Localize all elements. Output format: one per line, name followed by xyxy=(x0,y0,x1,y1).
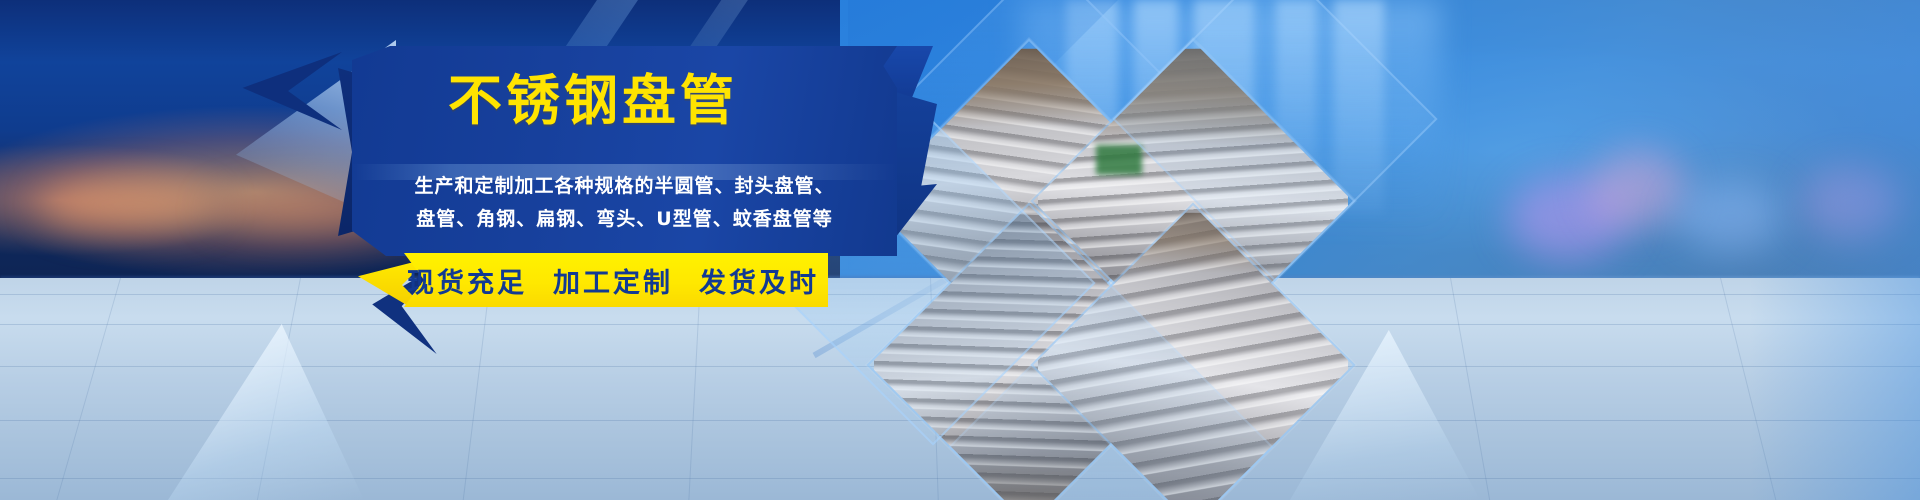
promotional-banner: 不锈钢盘管 生产和定制加工各种规格的半圆管、封头盘管、 盘管、角钢、扁钢、弯头、… xyxy=(0,0,1920,500)
bokeh-light-2 xyxy=(1590,150,1686,228)
ribbon-item-custom: 加工定制 xyxy=(553,261,673,300)
page-title: 不锈钢盘管 xyxy=(448,74,738,128)
ribbon-text-group: 现货充足 加工定制 发货及时 xyxy=(398,253,828,307)
ground-gridline-v xyxy=(56,278,121,500)
feature-ribbon: 现货充足 加工定制 发货及时 xyxy=(358,253,828,307)
photo-green-object xyxy=(1096,145,1142,175)
subtitle-line-1: 生产和定制加工各种规格的半圆管、封头盘管、 xyxy=(352,171,897,198)
ground-gridline-v xyxy=(463,278,491,500)
bokeh-light-5 xyxy=(40,178,220,232)
subtitle-line-2: 盘管、角钢、扁钢、弯头、U型管、蚊香盘管等 xyxy=(352,204,897,231)
bokeh-light-3 xyxy=(1676,182,1786,252)
ribbon-item-stock: 现货充足 xyxy=(407,261,527,300)
headline-panel: 不锈钢盘管 生产和定制加工各种规格的半圆管、封头盘管、 盘管、角钢、扁钢、弯头、… xyxy=(352,46,897,256)
bokeh-light-4 xyxy=(1802,166,1902,240)
ribbon-item-shipping: 发货及时 xyxy=(699,261,819,300)
ground-gridline-v xyxy=(1720,278,1776,500)
ground-gridline-v xyxy=(688,278,701,500)
